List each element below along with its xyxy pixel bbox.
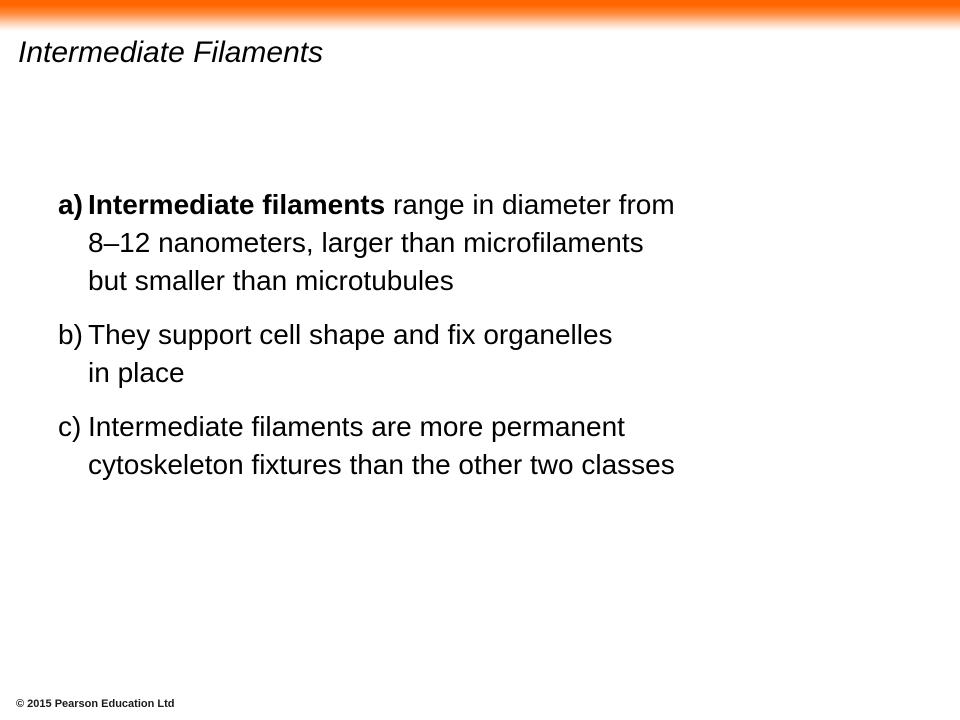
list-item: b) They support cell shape and fix organ… [58,316,908,392]
list-item: c) Intermediate filaments are more perma… [58,408,908,484]
list-item: a) Intermediate filaments range in diame… [58,186,908,300]
list-line: in place [88,354,908,392]
bullet-list: a) Intermediate filaments range in diame… [58,186,908,484]
page-title: Intermediate Filaments [18,34,918,72]
orange-gradient-banner [0,0,960,32]
lead-rest: range in diameter from [385,189,674,220]
list-marker-a: a) [58,186,88,224]
list-line: Intermediate filaments range in diameter… [88,186,908,224]
emphasis-term: Intermediate filaments [88,189,385,220]
list-item-text-c: Intermediate filaments are more permanen… [88,408,908,484]
list-line: Intermediate filaments are more permanen… [88,408,908,446]
list-line: 8–12 nanometers, larger than microfilame… [88,224,908,262]
list-marker-c: c) [58,408,88,446]
orange-solid-edge [0,0,960,6]
list-item-text-a: Intermediate filaments range in diameter… [88,186,908,300]
list-marker-b: b) [58,316,88,354]
copyright-footer: © 2015 Pearson Education Ltd [16,697,174,711]
list-line: but smaller than microtubules [88,262,908,300]
slide-canvas: Intermediate Filaments a) Intermediate f… [0,0,960,720]
list-item-text-b: They support cell shape and fix organell… [88,316,908,392]
list-line: They support cell shape and fix organell… [88,316,908,354]
list-line: cytoskeleton fixtures than the other two… [88,446,908,484]
